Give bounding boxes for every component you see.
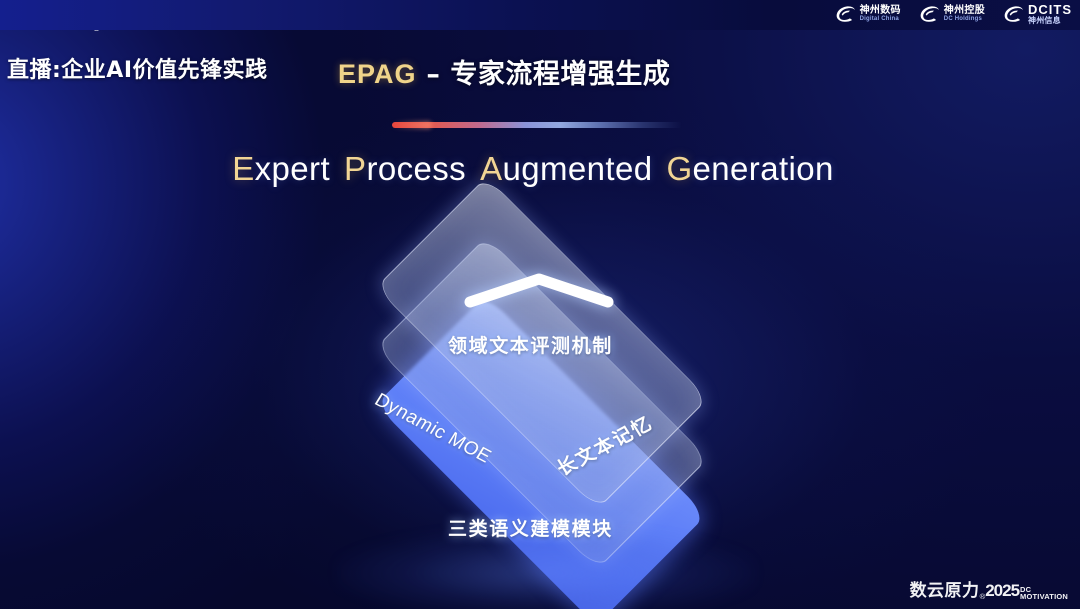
watermark-logo-year: 2025 [985,581,1019,601]
slide-canvas: 数云原力®2025 DC MOTIVATION 神州数码 Digital Chi… [0,0,1080,609]
partner-text: 神州数码 Digital China [860,6,901,23]
english-word-process: Process [344,150,466,187]
partner-logo-digital-china: 神州数码 Digital China [834,4,901,24]
chevron-up-icon [464,272,614,308]
english-word-generation: Generation [666,150,833,187]
swoosh-icon [1002,4,1024,24]
watermark-logo-dc-motivation: DC MOTIVATION [1020,586,1068,600]
english-word-augmented: Augmented [480,150,652,187]
broadcast-subtitle: 直播:企业AI价值先锋实践 [7,52,268,84]
page-title-separator: – [417,59,451,90]
watermark-logo-motivation: MOTIVATION [1020,593,1068,600]
english-word-expert: Expert [232,150,330,187]
english-title: ExpertProcessAugmentedGeneration [0,150,1080,188]
english-word-rest: xpert [255,150,330,187]
title-divider [392,122,682,128]
english-word-initial: E [232,150,254,187]
partner-name-cn: 神州数码 [860,6,901,17]
swoosh-icon [918,4,940,24]
partner-text: DCITS 神州信息 [1028,3,1072,25]
watermark-logo: 数云原力®2025 DC MOTIVATION [910,576,1068,601]
english-word-initial: P [344,150,366,187]
page-title-chinese: 专家流程增强生成 [450,59,670,90]
english-word-initial: G [666,150,692,187]
partner-name-en: Digital China [860,16,901,22]
partner-logo-dcits: DCITS 神州信息 [1002,3,1072,25]
partner-logo-group: 神州数码 Digital China 神州控股 DC Holdings DCIT… [834,3,1072,25]
english-word-rest: ugmented [502,150,652,187]
page-title: EPAG – 专家流程增强生成 [338,52,670,91]
english-word-rest: eneration [693,150,834,187]
english-word-rest: rocess [366,150,466,187]
partner-name-en: DC Holdings [944,16,985,22]
partner-text: 神州控股 DC Holdings [944,6,985,23]
partner-logo-dc-holdings: 神州控股 DC Holdings [918,4,985,24]
partner-name-cn: 神州控股 [944,6,985,17]
partner-name-cn: DCITS [1028,3,1072,17]
stack-glow [336,528,756,609]
layer-stack-diagram: 领域文本评测机制 Dynamic MOE 长文本记忆 三类语义建模模块 [296,228,786,573]
partner-name-en: 神州信息 [1028,17,1072,25]
watermark-logo-chinese: 数云原力 [910,576,980,601]
page-title-acronym: EPAG [338,59,417,89]
english-word-initial: A [480,150,502,187]
swoosh-icon [834,4,856,24]
